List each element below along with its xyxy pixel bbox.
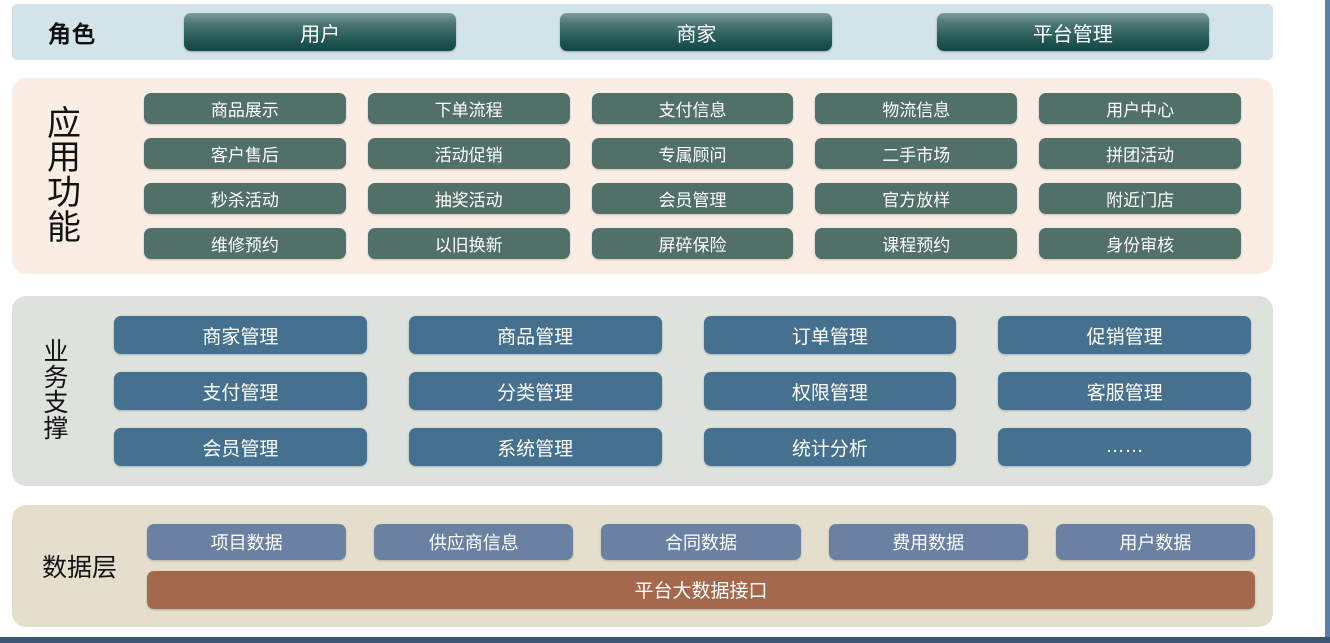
app-chip-label: 商品展示 xyxy=(211,96,279,121)
biz-chip[interactable]: 权限管理 xyxy=(704,372,957,410)
app-chip[interactable]: 抽奖活动 xyxy=(368,183,570,214)
biz-chip-label: 统计分析 xyxy=(792,434,868,461)
data-layer-label: 数据层 xyxy=(12,548,147,584)
biz-chip-label: 客服管理 xyxy=(1087,378,1163,405)
data-layer-band: 数据层 项目数据 供应商信息 合同数据 费用数据 用户数据 平台大数据接口 xyxy=(12,505,1273,627)
biz-chip[interactable]: 促销管理 xyxy=(998,316,1251,354)
role-button-group: 用户 商家 平台管理 xyxy=(132,13,1273,51)
biz-chip-label: 商家管理 xyxy=(202,322,278,349)
app-chip-label: 活动促销 xyxy=(435,141,503,166)
application-functions-label-char-1: 应 xyxy=(18,107,110,142)
app-chip[interactable]: 维修预约 xyxy=(144,228,346,259)
app-chip-label: 屏碎保险 xyxy=(658,231,726,256)
application-functions-label-char-3: 功 xyxy=(18,176,110,211)
app-chip[interactable]: 二手市场 xyxy=(815,138,1017,169)
biz-chip-more[interactable]: …… xyxy=(998,428,1251,466)
app-chip-label: 会员管理 xyxy=(658,186,726,211)
biz-chip-label: 订单管理 xyxy=(792,322,868,349)
app-chip-label: 身份审核 xyxy=(1106,231,1174,256)
app-chip[interactable]: 支付信息 xyxy=(592,93,794,124)
app-chip[interactable]: 客户售后 xyxy=(144,138,346,169)
app-chip[interactable]: 秒杀活动 xyxy=(144,183,346,214)
app-chip[interactable]: 附近门店 xyxy=(1039,183,1241,214)
biz-chip-label: 促销管理 xyxy=(1087,322,1163,349)
app-chip-label: 官方放样 xyxy=(882,186,950,211)
app-chip-label: 秒杀活动 xyxy=(211,186,279,211)
business-support-label: 业 务 支 撑 xyxy=(12,340,92,442)
data-chip[interactable]: 用户数据 xyxy=(1056,524,1255,560)
app-chip[interactable]: 专属顾问 xyxy=(592,138,794,169)
role-button-user[interactable]: 用户 xyxy=(184,13,456,51)
app-chip-label: 下单流程 xyxy=(435,96,503,121)
data-chip-label: 项目数据 xyxy=(211,529,283,555)
app-chip[interactable]: 商品展示 xyxy=(144,93,346,124)
role-band: 角色 用户 商家 平台管理 xyxy=(12,4,1273,60)
biz-chip-label: 会员管理 xyxy=(202,434,278,461)
data-layer-content: 项目数据 供应商信息 合同数据 费用数据 用户数据 平台大数据接口 xyxy=(147,524,1273,609)
business-support-band: 业 务 支 撑 商家管理 商品管理 订单管理 促销管理 支付管理 分类管理 权限… xyxy=(12,296,1273,486)
app-chip[interactable]: 会员管理 xyxy=(592,183,794,214)
role-button-user-label: 用户 xyxy=(300,18,340,47)
business-support-grid: 商家管理 商品管理 订单管理 促销管理 支付管理 分类管理 权限管理 客服管理 … xyxy=(92,316,1273,466)
role-button-merchant-label: 商家 xyxy=(676,18,716,47)
app-chip-label: 附近门店 xyxy=(1106,186,1174,211)
app-chip[interactable]: 拼团活动 xyxy=(1039,138,1241,169)
app-chip[interactable]: 官方放样 xyxy=(815,183,1017,214)
biz-chip[interactable]: 统计分析 xyxy=(704,428,957,466)
data-chip[interactable]: 项目数据 xyxy=(147,524,346,560)
biz-chip[interactable]: 商家管理 xyxy=(114,316,367,354)
role-band-label: 角色 xyxy=(12,15,132,49)
data-chip[interactable]: 供应商信息 xyxy=(374,524,573,560)
biz-chip[interactable]: 支付管理 xyxy=(114,372,367,410)
data-chip-label: 费用数据 xyxy=(892,529,964,555)
app-chip[interactable]: 以旧换新 xyxy=(368,228,570,259)
role-button-platform-admin-label: 平台管理 xyxy=(1033,18,1113,47)
application-functions-band: 应 用 功 能 商品展示 下单流程 支付信息 物流信息 用户中心 客户售后 活动… xyxy=(12,78,1273,274)
application-functions-label: 应 用 功 能 xyxy=(12,107,110,246)
business-support-label-char-3: 支 xyxy=(20,391,92,417)
biz-chip-label: 分类管理 xyxy=(497,378,573,405)
application-functions-grid: 商品展示 下单流程 支付信息 物流信息 用户中心 客户售后 活动促销 专属顾问 … xyxy=(110,93,1273,259)
biz-chip[interactable]: 商品管理 xyxy=(409,316,662,354)
app-chip-label: 二手市场 xyxy=(882,141,950,166)
biz-chip-label: 支付管理 xyxy=(202,378,278,405)
biz-chip-label: 商品管理 xyxy=(497,322,573,349)
biz-chip[interactable]: 分类管理 xyxy=(409,372,662,410)
app-chip-label: 支付信息 xyxy=(658,96,726,121)
app-chip[interactable]: 物流信息 xyxy=(815,93,1017,124)
business-support-label-char-1: 业 xyxy=(20,340,92,366)
app-chip-label: 抽奖活动 xyxy=(435,186,503,211)
app-chip-label: 拼团活动 xyxy=(1106,141,1174,166)
app-chip-label: 课程预约 xyxy=(882,231,950,256)
app-chip[interactable]: 用户中心 xyxy=(1039,93,1241,124)
app-chip[interactable]: 活动促销 xyxy=(368,138,570,169)
app-chip[interactable]: 屏碎保险 xyxy=(592,228,794,259)
data-chip[interactable]: 合同数据 xyxy=(601,524,800,560)
data-chip-label: 用户数据 xyxy=(1119,529,1191,555)
app-chip[interactable]: 身份审核 xyxy=(1039,228,1241,259)
biz-chip[interactable]: 系统管理 xyxy=(409,428,662,466)
app-chip[interactable]: 下单流程 xyxy=(368,93,570,124)
app-chip-label: 专属顾问 xyxy=(658,141,726,166)
role-button-platform-admin[interactable]: 平台管理 xyxy=(937,13,1209,51)
slide-border-bottom xyxy=(0,637,1330,643)
data-chip-label: 供应商信息 xyxy=(429,529,519,555)
bigdata-interface-label: 平台大数据接口 xyxy=(634,576,767,603)
role-button-merchant[interactable]: 商家 xyxy=(560,13,832,51)
biz-chip-label: …… xyxy=(1106,436,1144,458)
slide-border-right xyxy=(1325,0,1330,643)
app-chip-label: 用户中心 xyxy=(1106,96,1174,121)
application-functions-label-char-2: 用 xyxy=(18,141,110,176)
app-chip[interactable]: 课程预约 xyxy=(815,228,1017,259)
data-layer-chip-row: 项目数据 供应商信息 合同数据 费用数据 用户数据 xyxy=(147,524,1255,560)
business-support-label-char-4: 撑 xyxy=(20,417,92,443)
biz-chip-label: 系统管理 xyxy=(497,434,573,461)
business-support-label-char-2: 务 xyxy=(20,366,92,392)
app-chip-label: 物流信息 xyxy=(882,96,950,121)
app-chip-label: 以旧换新 xyxy=(435,231,503,256)
biz-chip[interactable]: 订单管理 xyxy=(704,316,957,354)
app-chip-label: 维修预约 xyxy=(211,231,279,256)
biz-chip[interactable]: 会员管理 xyxy=(114,428,367,466)
biz-chip[interactable]: 客服管理 xyxy=(998,372,1251,410)
data-chip-label: 合同数据 xyxy=(665,529,737,555)
application-functions-label-char-4: 能 xyxy=(18,211,110,246)
biz-chip-label: 权限管理 xyxy=(792,378,868,405)
app-chip-label: 客户售后 xyxy=(211,141,279,166)
bigdata-interface-bar[interactable]: 平台大数据接口 xyxy=(147,571,1255,609)
data-chip[interactable]: 费用数据 xyxy=(829,524,1028,560)
